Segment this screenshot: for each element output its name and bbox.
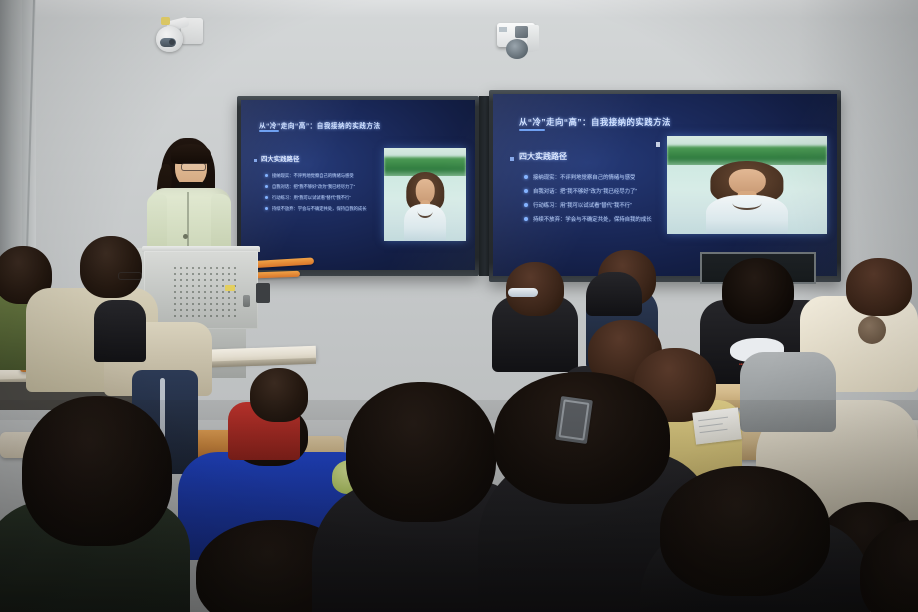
left-title-underline xyxy=(259,130,279,132)
right-bullet-4-text: 持续不放弃：学会与不确定共处，保持自我的成长 xyxy=(533,215,652,223)
hair-headband xyxy=(508,288,538,297)
video-subject xyxy=(710,161,784,234)
ceiling-band xyxy=(0,0,918,18)
video-subject-necklace xyxy=(417,205,432,218)
student-hoodie-khaki-inner xyxy=(94,300,146,362)
hair-scrunchie xyxy=(858,316,886,344)
wall-camera-icon xyxy=(155,14,203,58)
left-display-video[interactable] xyxy=(384,148,466,241)
left-bullet-1-text: 接纳现实：不评判地觉察自己的情绪与感受 xyxy=(272,173,354,179)
bullet-dot-icon xyxy=(524,189,528,193)
left-slide-heading: 四大实践路径 xyxy=(261,154,299,163)
lectern-label-sticker xyxy=(225,285,235,291)
bullet-dot-icon xyxy=(524,175,528,179)
ceiling-camera-ball xyxy=(506,39,528,59)
right-bullet-1-text: 接纳现实：不评判地觉察自己的情绪与感受 xyxy=(533,173,635,181)
right-title-underline xyxy=(519,129,545,131)
presenter-jacket-button xyxy=(183,234,188,239)
lectern-front-panel xyxy=(144,251,258,329)
student-black-graphic-head xyxy=(722,258,794,324)
right-bullet-2-text: 自我对话：把“我不够好”改为“我已经尽力了” xyxy=(533,187,637,195)
right-heading-bullet xyxy=(510,157,514,161)
right-display-video[interactable] xyxy=(667,136,827,234)
bullet-dot-icon xyxy=(265,207,268,210)
bullet-dot-icon xyxy=(265,174,268,177)
ceiling-camera-icon xyxy=(497,23,543,63)
ceiling-camera-side xyxy=(527,25,539,51)
left-bullet-3-text: 行动练习：用“我可以试试看”替代“我不行” xyxy=(272,195,351,201)
left-bullet-1: 接纳现实：不评判地觉察自己的情绪与感受 xyxy=(265,170,400,181)
left-bullet-2: 自我对话：把“我不够好”改为“我已经尽力了” xyxy=(265,181,400,192)
bullet-dot-icon xyxy=(524,203,528,207)
presenter-hair-front xyxy=(171,144,211,164)
right-slide-heading: 四大实践路径 xyxy=(519,151,567,162)
video-subject xyxy=(406,172,444,241)
lecture-hall-photo: 从“冷”走向“高”：自我接纳的实践方法 四大实践路径 接纳现实：不评判地觉察自己… xyxy=(0,0,918,612)
left-slide-title: 从“冷”走向“高”：自我接纳的实践方法 xyxy=(259,120,381,130)
video-subject-necklace xyxy=(732,196,761,210)
lectern-device[interactable] xyxy=(256,283,270,303)
ceiling-camera-tag xyxy=(499,27,507,32)
ceiling-camera-eye xyxy=(515,26,528,38)
foreground-shadow xyxy=(0,400,918,612)
student-cream-hoodie-head xyxy=(846,258,912,316)
left-bullet-3: 行动练习：用“我可以试试看”替代“我不行” xyxy=(265,192,400,203)
left-bullet-4: 持续不放弃：学会与不确定共处，保持自我的成长 xyxy=(265,203,400,214)
camera-indicator xyxy=(161,17,170,25)
right-display-screen[interactable]: 从“冷”走向“高”：自我接纳的实践方法 四大实践路径 接纳现实：不评判地觉察自己… xyxy=(493,94,837,276)
right-bullet-3-text: 行动练习：用“我可以试试看”替代“我不行” xyxy=(533,201,632,209)
left-bullet-2-text: 自我对话：把“我不够好”改为“我已经尽力了” xyxy=(272,184,355,190)
bullet-dot-icon xyxy=(265,196,268,199)
lectern-knob[interactable] xyxy=(243,295,250,307)
right-slide-title: 从“冷”走向“高”：自我接纳的实践方法 xyxy=(519,116,671,128)
lectern-speaker-grille-icon xyxy=(172,265,236,321)
bullet-dot-icon xyxy=(524,217,528,221)
camera-lens xyxy=(160,38,176,47)
student-hoodie-khaki-head xyxy=(80,236,142,298)
left-bullet-4-text: 持续不放弃：学会与不确定共处，保持自我的成长 xyxy=(272,206,367,212)
left-display-screen[interactable]: 从“冷”走向“高”：自我接纳的实践方法 四大实践路径 接纳现实：不评判地觉察自己… xyxy=(241,100,475,270)
presenter-glasses-icon xyxy=(181,163,206,171)
student-hoodie-khaki-glasses-icon xyxy=(118,272,142,280)
left-heading-bullet xyxy=(254,159,257,162)
bullet-dot-icon xyxy=(265,185,268,188)
left-bullet-list: 接纳现实：不评判地觉察自己的情绪与感受 自我对话：把“我不够好”改为“我已经尽力… xyxy=(265,170,400,214)
student-black-far-left-torso xyxy=(586,272,642,316)
slide-cursor-icon xyxy=(656,142,660,147)
